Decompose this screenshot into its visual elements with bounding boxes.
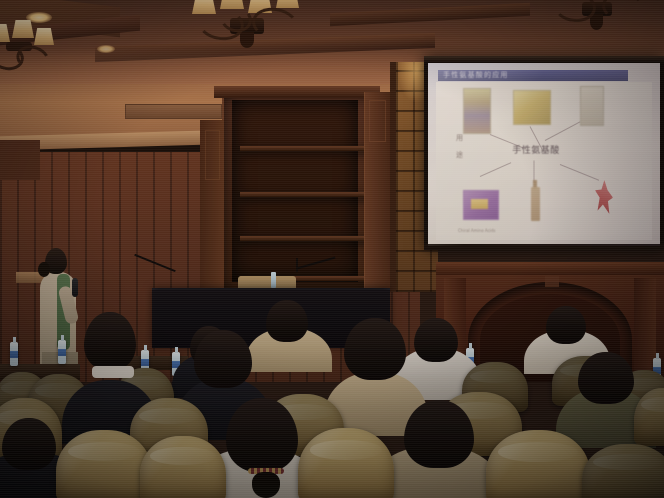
audience-chair — [486, 430, 590, 498]
lamp-shade-icon — [34, 28, 54, 45]
water-bottle — [58, 340, 66, 364]
conference-room-photo: 手性氨基酸的应用 手性氨基酸 用 途 Chiral Amino Acids — [0, 0, 664, 498]
audience-chair — [582, 444, 664, 498]
bookcase-cornice — [214, 86, 380, 98]
bookcase-shelf — [240, 192, 374, 197]
list-item — [546, 306, 586, 344]
microphone-post-right — [296, 258, 298, 272]
audience-chair — [298, 428, 394, 498]
list-item — [344, 318, 406, 380]
bookcase-interior — [232, 100, 358, 282]
list-item — [194, 330, 252, 388]
list-item — [2, 418, 56, 470]
chandelier-left — [0, 18, 56, 80]
list-item — [266, 300, 308, 342]
audience-chair — [56, 430, 152, 498]
recessed-downlight-icon — [97, 45, 115, 53]
chandelier-right — [548, 0, 664, 40]
wall-air-vent — [125, 104, 222, 119]
water-bottle — [10, 342, 18, 366]
list-item — [578, 352, 634, 404]
bookcase-shelf — [240, 236, 374, 241]
mantel-shelf — [436, 262, 664, 275]
mantel-keystone — [545, 276, 559, 287]
wood-wall-upper-left — [0, 140, 40, 180]
list-item — [84, 312, 136, 370]
ponytail — [252, 472, 280, 498]
lamp-shade-icon — [0, 24, 10, 42]
chandelier-center — [186, 0, 316, 58]
audience-chair — [140, 436, 226, 498]
list-item — [226, 398, 298, 472]
screen-glare — [428, 63, 660, 246]
water-bottle — [271, 272, 276, 288]
chandelier-arm — [600, 0, 646, 25]
audience-collar — [92, 366, 134, 378]
list-item — [404, 400, 474, 468]
list-item — [414, 318, 458, 362]
bookcase-shelf — [240, 146, 374, 151]
projection-screen-roller — [424, 56, 664, 63]
speaker-hair — [38, 262, 50, 277]
lamp-shade-icon — [276, 0, 299, 8]
pilaster-inset-panel — [369, 100, 386, 142]
chandelier-finial — [240, 32, 254, 48]
pilaster-inset-panel — [205, 130, 220, 180]
lamp-shade-icon — [12, 20, 34, 38]
handheld-microphone — [72, 278, 78, 297]
